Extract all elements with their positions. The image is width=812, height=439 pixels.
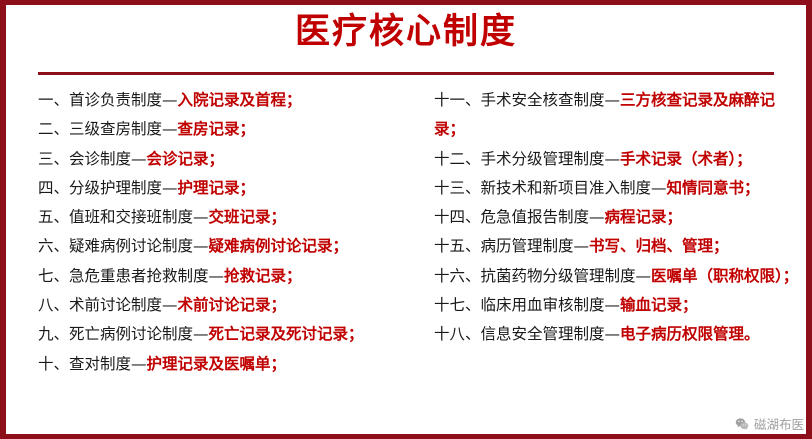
list-item: 三、会诊制度—会诊记录； bbox=[38, 145, 400, 174]
item-number: 三、 bbox=[38, 150, 69, 168]
item-number: 九、 bbox=[38, 325, 69, 343]
list-item: 十五、病历管理制度—书写、归档、管理； bbox=[434, 232, 806, 261]
item-number: 七、 bbox=[38, 267, 69, 285]
item-document: 交班记录； bbox=[209, 208, 287, 226]
list-item: 十八、信息安全管理制度—电子病历权限管理。 bbox=[434, 320, 806, 349]
item-document: 护理记录及医嘱单； bbox=[147, 355, 287, 373]
list-item: 五、值班和交接班制度—交班记录； bbox=[38, 203, 400, 232]
list-item: 六、疑难病例讨论制度—疑难病例讨论记录； bbox=[38, 232, 400, 261]
item-number: 二、 bbox=[38, 120, 69, 138]
item-name: 危急值报告制度— bbox=[481, 208, 605, 226]
item-number: 十六、 bbox=[434, 267, 481, 285]
item-name: 三级查房制度— bbox=[69, 120, 178, 138]
item-name: 死亡病例讨论制度— bbox=[69, 325, 209, 343]
item-number: 五、 bbox=[38, 208, 69, 226]
list-item: 四、分级护理制度—护理记录； bbox=[38, 174, 400, 203]
item-name: 分级护理制度— bbox=[69, 179, 178, 197]
item-name: 疑难病例讨论制度— bbox=[69, 237, 209, 255]
right-column: 十一、手术安全核查制度—三方核查记录及麻醉记录； 十二、手术分级管理制度—手术记… bbox=[406, 86, 812, 434]
item-document: 医嘱单（职称权限）； bbox=[651, 267, 798, 285]
list-item: 一、首诊负责制度—入院记录及首程； bbox=[38, 86, 400, 115]
item-number: 八、 bbox=[38, 296, 69, 314]
item-name: 病历管理制度— bbox=[481, 237, 590, 255]
item-number: 一、 bbox=[38, 91, 69, 109]
list-item: 八、术前讨论制度—术前讨论记录； bbox=[38, 291, 400, 320]
list-item: 十一、手术安全核查制度—三方核查记录及麻醉记录； bbox=[434, 86, 806, 145]
item-name: 手术分级管理制度— bbox=[481, 150, 621, 168]
item-document: 会诊记录； bbox=[147, 150, 225, 168]
list-item: 十四、危急值报告制度—病程记录； bbox=[434, 203, 806, 232]
content-columns: 一、首诊负责制度—入院记录及首程； 二、三级查房制度—查房记录； 三、会诊制度—… bbox=[0, 86, 812, 434]
list-item: 二、三级查房制度—查房记录； bbox=[38, 115, 400, 144]
list-item: 十、查对制度—护理记录及医嘱单； bbox=[38, 350, 400, 379]
item-name: 查对制度— bbox=[69, 355, 147, 373]
item-number: 十三、 bbox=[434, 179, 481, 197]
item-number: 十二、 bbox=[434, 150, 481, 168]
slide-page: 医疗核心制度 一、首诊负责制度—入院记录及首程； 二、三级查房制度—查房记录； … bbox=[0, 0, 812, 439]
item-name: 术前讨论制度— bbox=[69, 296, 178, 314]
watermark: 磁湖布医 bbox=[735, 414, 804, 433]
item-document: 疑难病例讨论记录； bbox=[209, 237, 349, 255]
list-item: 十二、手术分级管理制度—手术记录（术者）； bbox=[434, 145, 806, 174]
item-name: 会诊制度— bbox=[69, 150, 147, 168]
title-divider bbox=[38, 72, 774, 75]
item-name: 首诊负责制度— bbox=[69, 91, 178, 109]
item-name: 临床用血审核制度— bbox=[481, 296, 621, 314]
item-number: 十四、 bbox=[434, 208, 481, 226]
item-name: 手术安全核查制度— bbox=[481, 91, 621, 109]
item-name: 值班和交接班制度— bbox=[69, 208, 209, 226]
item-name: 急危重患者抢救制度— bbox=[69, 267, 224, 285]
item-document: 手术记录（术者）； bbox=[620, 150, 752, 168]
item-document: 电子病历权限管理。 bbox=[620, 325, 760, 343]
item-document: 输血记录； bbox=[620, 296, 698, 314]
item-document: 书写、归档、管理； bbox=[589, 237, 729, 255]
list-item: 十六、抗菌药物分级管理制度—医嘱单（职称权限）； bbox=[434, 262, 806, 291]
item-document: 抢救记录； bbox=[224, 267, 302, 285]
item-number: 十、 bbox=[38, 355, 69, 373]
item-number: 十八、 bbox=[434, 325, 481, 343]
wechat-icon bbox=[735, 417, 749, 431]
item-document: 入院记录及首程； bbox=[178, 91, 302, 109]
watermark-text: 磁湖布医 bbox=[754, 414, 804, 433]
item-number: 四、 bbox=[38, 179, 69, 197]
item-name: 信息安全管理制度— bbox=[481, 325, 621, 343]
item-name: 抗菌药物分级管理制度— bbox=[481, 267, 652, 285]
page-title: 医疗核心制度 bbox=[0, 8, 812, 56]
item-name: 新技术和新项目准入制度— bbox=[481, 179, 667, 197]
list-item: 七、急危重患者抢救制度—抢救记录； bbox=[38, 262, 400, 291]
item-document: 死亡记录及死讨记录； bbox=[209, 325, 364, 343]
left-column: 一、首诊负责制度—入院记录及首程； 二、三级查房制度—查房记录； 三、会诊制度—… bbox=[0, 86, 406, 434]
item-number: 十七、 bbox=[434, 296, 481, 314]
list-item: 九、死亡病例讨论制度—死亡记录及死讨记录； bbox=[38, 320, 400, 349]
item-document: 知情同意书； bbox=[667, 179, 760, 197]
list-item: 十七、临床用血审核制度—输血记录； bbox=[434, 291, 806, 320]
item-number: 六、 bbox=[38, 237, 69, 255]
item-number: 十五、 bbox=[434, 237, 481, 255]
top-border-bar bbox=[0, 0, 812, 5]
list-item: 十三、新技术和新项目准入制度—知情同意书； bbox=[434, 174, 806, 203]
item-document: 术前讨论记录； bbox=[178, 296, 287, 314]
item-number: 十一、 bbox=[434, 91, 481, 109]
bottom-border-bar bbox=[0, 434, 812, 439]
item-document: 护理记录； bbox=[178, 179, 256, 197]
item-document: 病程记录； bbox=[605, 208, 683, 226]
item-document: 查房记录； bbox=[178, 120, 256, 138]
